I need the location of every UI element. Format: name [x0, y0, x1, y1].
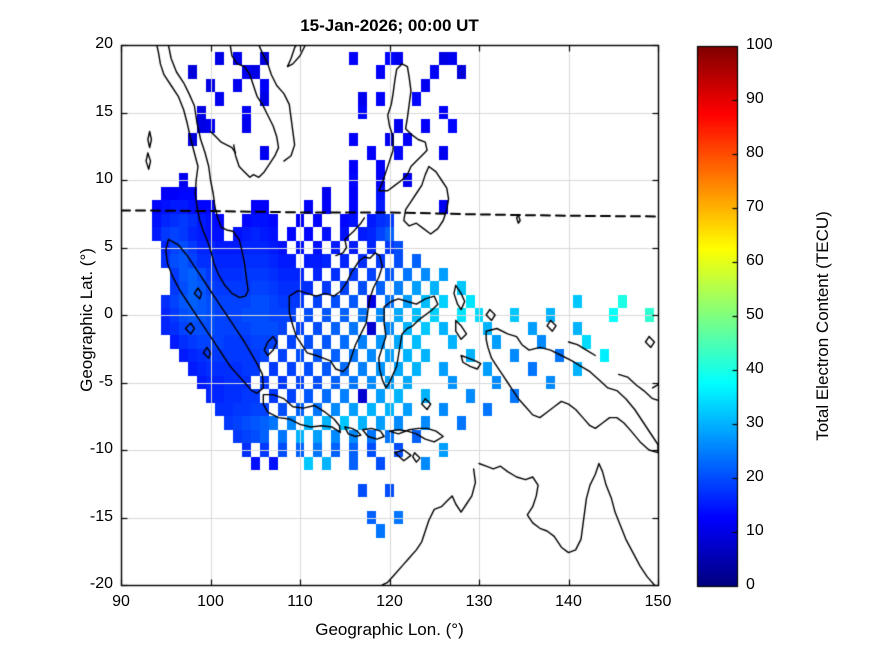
colorbar-tick-label: 80: [746, 144, 794, 162]
y-tick-label: 20: [53, 35, 113, 53]
x-tick-label: 150: [628, 593, 688, 611]
x-tick-label: 100: [181, 593, 241, 611]
page-title: 15-Jan-2026; 00:00 UT: [121, 16, 658, 36]
y-tick-label: -5: [53, 373, 113, 391]
x-tick-label: 90: [91, 593, 151, 611]
colorbar-tick-label: 70: [746, 198, 794, 216]
colorbar-tick-label: 90: [746, 90, 794, 108]
y-tick-label: 10: [53, 170, 113, 188]
colorbar-tick-label: 60: [746, 252, 794, 270]
y-tick-label: -15: [53, 508, 113, 526]
x-tick-label: 130: [449, 593, 509, 611]
y-tick-label: 15: [53, 103, 113, 121]
colorbar-tick-label: 100: [746, 36, 794, 54]
colorbar-tick-label: 20: [746, 468, 794, 486]
colorbar-tick-label: 50: [746, 306, 794, 324]
y-tick-label: -10: [53, 440, 113, 458]
x-tick-label: 120: [360, 593, 420, 611]
x-tick-label: 110: [270, 593, 330, 611]
x-axis-label: Geographic Lon. (°): [121, 620, 658, 640]
colorbar-tick-label: 10: [746, 522, 794, 540]
colorbar-tick-label: 30: [746, 414, 794, 432]
colorbar-label: Total Electron Content (TECU): [813, 111, 833, 541]
tec-map-figure: 15-Jan-2026; 00:00 UT Geographic Lon. (°…: [0, 0, 875, 656]
y-tick-label: 5: [53, 238, 113, 256]
x-tick-label: 140: [539, 593, 599, 611]
colorbar-tick-label: 40: [746, 360, 794, 378]
tec-heatmap-canvas[interactable]: [0, 0, 875, 656]
colorbar-tick-label: 0: [746, 576, 794, 594]
y-tick-label: 0: [53, 305, 113, 323]
y-tick-label: -20: [53, 575, 113, 593]
